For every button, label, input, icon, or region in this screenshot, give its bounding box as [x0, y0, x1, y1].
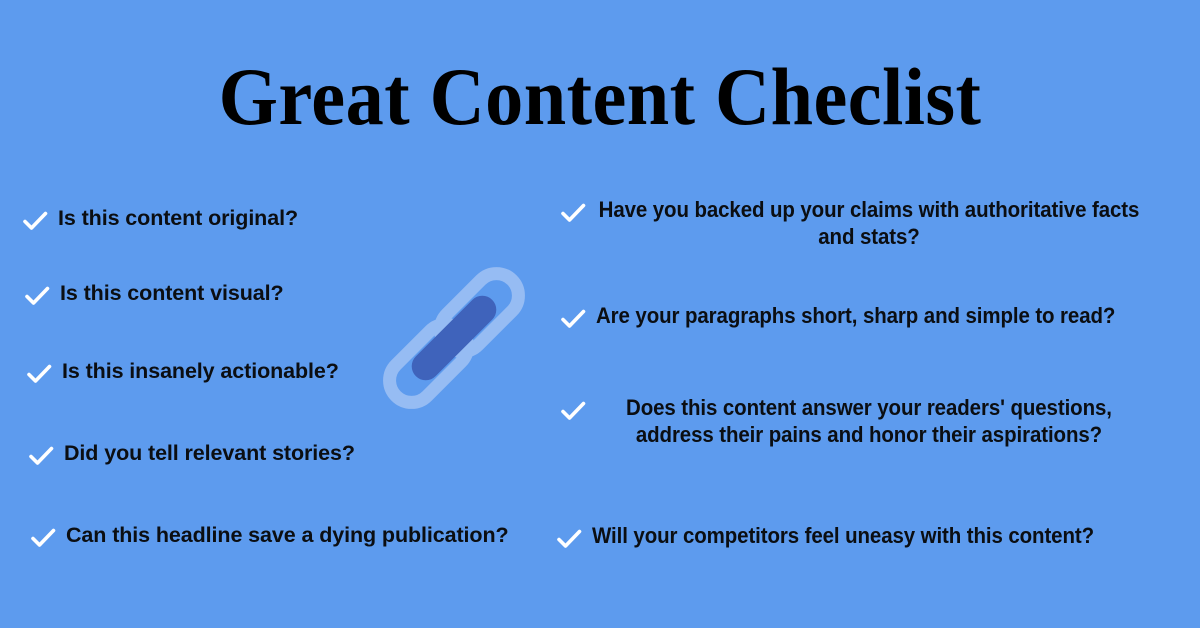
list-item[interactable]: Is this insanely actionable? — [24, 358, 339, 389]
list-item[interactable]: Does this content answer your readers' q… — [558, 395, 1183, 449]
check-icon — [24, 359, 54, 389]
check-icon — [20, 206, 50, 236]
list-item[interactable]: Can this headline save a dying publicati… — [28, 522, 509, 553]
list-item-label: Are your paragraphs short, sharp and sim… — [596, 303, 1115, 330]
page-title: Great Content Checlist — [42, 56, 1158, 138]
list-item-label: Is this content original? — [58, 205, 298, 231]
list-item[interactable]: Have you backed up your claims with auth… — [558, 197, 1183, 251]
check-icon — [558, 198, 588, 228]
list-item-label: Does this content answer your readers' q… — [596, 395, 1142, 449]
list-item-label: Have you backed up your claims with auth… — [596, 197, 1142, 251]
check-icon — [28, 523, 58, 553]
list-item-label: Did you tell relevant stories? — [64, 440, 355, 466]
list-item-label: Can this headline save a dying publicati… — [66, 522, 509, 548]
list-item[interactable]: Are your paragraphs short, sharp and sim… — [558, 303, 1198, 334]
check-icon — [22, 281, 52, 311]
list-item[interactable]: Is this content visual? — [22, 280, 284, 311]
list-item-label: Is this content visual? — [60, 280, 284, 306]
check-icon — [26, 441, 56, 471]
list-item[interactable]: Did you tell relevant stories? — [26, 440, 355, 471]
check-icon — [554, 524, 584, 554]
list-item[interactable]: Will your competitors feel uneasy with t… — [554, 523, 1194, 554]
list-item[interactable]: Is this content original? — [20, 205, 298, 236]
list-item-label: Is this insanely actionable? — [62, 358, 339, 384]
check-icon — [558, 396, 588, 426]
check-icon — [558, 304, 588, 334]
list-item-label: Will your competitors feel uneasy with t… — [592, 523, 1094, 550]
checklist-poster: Great Content Checlist Is this content o… — [0, 0, 1200, 628]
chain-link-icon — [366, 250, 542, 426]
